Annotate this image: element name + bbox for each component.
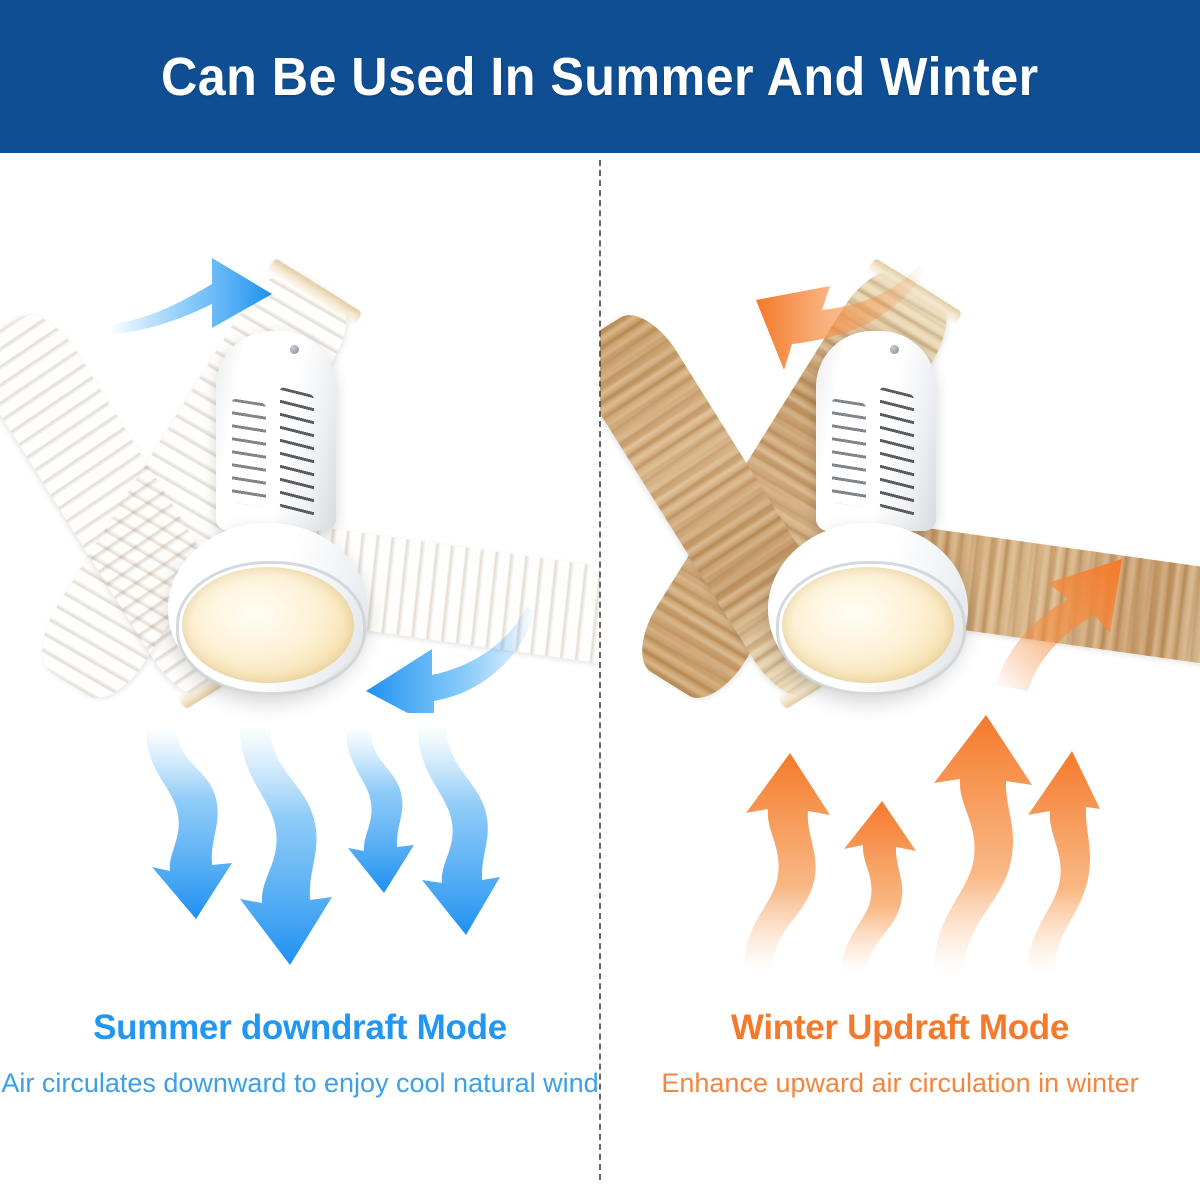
light-hub [168,523,368,695]
fan-illustration-summer [0,153,600,753]
panel-summer: Summer downdraft Mode Air circulates dow… [0,153,600,1200]
header-banner: Can Be Used In Summer And Winter [0,0,1200,153]
caption-summer: Summer downdraft Mode Air circulates dow… [0,1008,600,1101]
airflow-arrows-down [140,723,500,973]
blade-edge-highlight [866,258,963,327]
vent-slits-right [880,387,914,517]
vent-slits-right [280,387,314,517]
panel-winter: Winter Updraft Mode Enhance upward air c… [600,153,1200,1200]
infographic-page: Can Be Used In Summer And Winter [0,0,1200,1200]
vent-slits-left [832,398,866,507]
blade-edge-highlight [266,258,363,327]
page-title: Can Be Used In Summer And Winter [161,46,1039,108]
caption-winter: Winter Updraft Mode Enhance upward air c… [600,1008,1200,1101]
winter-mode-description: Enhance upward air circulation in winter [600,1066,1200,1101]
led-light-ring [176,561,366,695]
summer-mode-title: Summer downdraft Mode [0,1008,600,1048]
winter-mode-title: Winter Updraft Mode [600,1008,1200,1048]
motor-housing [216,331,336,531]
screw-icon [890,345,899,354]
motor-housing [816,331,936,531]
vent-slits-left [232,398,266,507]
panel-divider [599,160,601,1180]
fan-illustration-winter [600,153,1200,753]
light-hub [768,523,968,695]
screw-icon [290,345,299,354]
summer-mode-description: Air circulates downward to enjoy cool na… [0,1066,600,1101]
led-light-ring [776,561,966,695]
